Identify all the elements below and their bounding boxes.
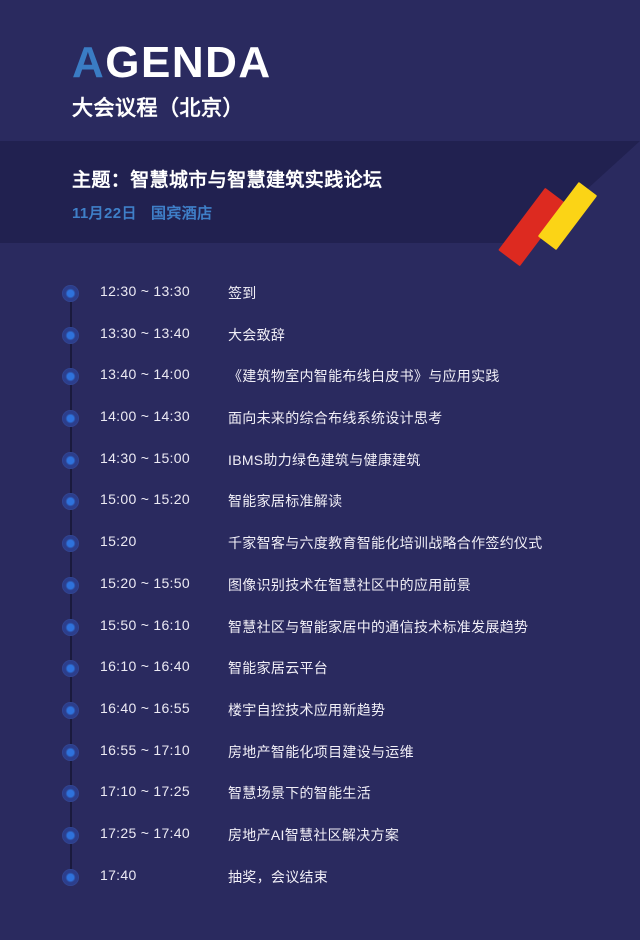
timeline-bullet-icon — [62, 619, 79, 636]
schedule-topic: 智慧社区与智能家居中的通信技术标准发展趋势 — [228, 617, 528, 637]
timeline-bullet-core — [67, 790, 74, 797]
schedule-time: 14:30 ~ 15:00 — [100, 450, 190, 466]
title-rest: GENDA — [105, 38, 271, 87]
timeline-bullet-icon — [62, 368, 79, 385]
timeline-bullet-core — [67, 332, 74, 339]
timeline-bullet-icon — [62, 577, 79, 594]
timeline-bullet-icon — [62, 285, 79, 302]
schedule-row: 16:55 ~ 17:10 房地产智能化项目建设与运维 — [0, 731, 640, 773]
page-title: AGENDA — [72, 40, 552, 86]
schedule-time: 13:40 ~ 14:00 — [100, 366, 190, 382]
timeline-bullet-icon — [62, 452, 79, 469]
schedule-time: 17:25 ~ 17:40 — [100, 825, 190, 841]
timeline-bullet-core — [67, 665, 74, 672]
timeline-bullet-core — [67, 874, 74, 881]
schedule-topic: 图像识别技术在智慧社区中的应用前景 — [228, 575, 471, 595]
timeline-bullet-core — [67, 498, 74, 505]
timeline-bullet-core — [67, 624, 74, 631]
schedule-topic: 《建筑物室内智能布线白皮书》与应用实践 — [228, 366, 500, 386]
timeline-bullet-core — [67, 457, 74, 464]
schedule-topic: 抽奖，会议结束 — [228, 867, 328, 887]
schedule-row: 14:00 ~ 14:30 面向未来的综合布线系统设计思考 — [0, 397, 640, 439]
timeline-bullet-core — [67, 373, 74, 380]
timeline-bullet-icon — [62, 410, 79, 427]
schedule-time: 14:00 ~ 14:30 — [100, 408, 190, 424]
schedule-topic: 智慧场景下的智能生活 — [228, 783, 371, 803]
theme-banner-content: 主题：智慧城市与智慧建筑实践论坛 11月22日国宾酒店 — [72, 165, 512, 223]
schedule-time: 15:20 — [100, 533, 137, 549]
schedule-row: 17:10 ~ 17:25 智慧场景下的智能生活 — [0, 772, 640, 814]
schedule-row: 12:30 ~ 13:30 签到 — [0, 272, 640, 314]
schedule-topic: 智能家居标准解读 — [228, 491, 342, 511]
timeline-bullet-core — [67, 749, 74, 756]
schedule-topic: 千家智客与六度教育智能化培训战略合作签约仪式 — [228, 533, 543, 553]
schedule-time: 15:50 ~ 16:10 — [100, 617, 190, 633]
timeline-bullet-core — [67, 290, 74, 297]
schedule-topic: 大会致辞 — [228, 325, 285, 345]
page-subtitle: 大会议程（北京） — [72, 92, 552, 122]
timeline-bullet-core — [67, 707, 74, 714]
schedule-row: 16:10 ~ 16:40 智能家居云平台 — [0, 647, 640, 689]
timeline-bullet-icon — [62, 744, 79, 761]
timeline-bullet-core — [67, 582, 74, 589]
event-date: 11月22日 — [72, 205, 137, 222]
poster-header: AGENDA 大会议程（北京） — [72, 40, 552, 122]
schedule-topic: 签到 — [228, 283, 257, 303]
title-accent-letter: A — [72, 38, 105, 87]
agenda-poster: AGENDA 大会议程（北京） 主题：智慧城市与智慧建筑实践论坛 11月22日国… — [0, 0, 640, 940]
forum-theme: 主题：智慧城市与智慧建筑实践论坛 — [72, 165, 512, 192]
timeline-bullet-core — [67, 832, 74, 839]
schedule-row: 13:40 ~ 14:00 《建筑物室内智能布线白皮书》与应用实践 — [0, 355, 640, 397]
schedule-timeline: 12:30 ~ 13:30 签到 13:30 ~ 13:40 大会致辞 13:4… — [0, 272, 640, 897]
schedule-row: 15:50 ~ 16:10 智慧社区与智能家居中的通信技术标准发展趋势 — [0, 606, 640, 648]
schedule-topic: 房地产AI智慧社区解决方案 — [228, 825, 399, 845]
timeline-bullet-icon — [62, 785, 79, 802]
schedule-row: 17:25 ~ 17:40 房地产AI智慧社区解决方案 — [0, 814, 640, 856]
timeline-bullet-icon — [62, 327, 79, 344]
schedule-time: 15:20 ~ 15:50 — [100, 575, 190, 591]
schedule-time: 15:00 ~ 15:20 — [100, 491, 190, 507]
schedule-time: 17:40 — [100, 867, 137, 883]
timeline-bullet-core — [67, 540, 74, 547]
schedule-row: 15:00 ~ 15:20 智能家居标准解读 — [0, 480, 640, 522]
schedule-row: 14:30 ~ 15:00 IBMS助力绿色建筑与健康建筑 — [0, 439, 640, 481]
timeline-bullet-core — [67, 415, 74, 422]
event-meta: 11月22日国宾酒店 — [72, 202, 512, 223]
schedule-row: 15:20 ~ 15:50 图像识别技术在智慧社区中的应用前景 — [0, 564, 640, 606]
timeline-bullet-icon — [62, 702, 79, 719]
schedule-row: 16:40 ~ 16:55 楼宇自控技术应用新趋势 — [0, 689, 640, 731]
schedule-row: 13:30 ~ 13:40 大会致辞 — [0, 314, 640, 356]
schedule-topic: 面向未来的综合布线系统设计思考 — [228, 408, 443, 428]
schedule-topic: 房地产智能化项目建设与运维 — [228, 742, 414, 762]
schedule-row: 15:20 千家智客与六度教育智能化培训战略合作签约仪式 — [0, 522, 640, 564]
schedule-row: 17:40 抽奖，会议结束 — [0, 856, 640, 898]
event-venue: 国宾酒店 — [151, 205, 213, 222]
timeline-bullet-icon — [62, 493, 79, 510]
timeline-bullet-icon — [62, 535, 79, 552]
timeline-bullet-icon — [62, 869, 79, 886]
schedule-topic: 智能家居云平台 — [228, 658, 328, 678]
schedule-time: 13:30 ~ 13:40 — [100, 325, 190, 341]
schedule-time: 17:10 ~ 17:25 — [100, 783, 190, 799]
schedule-topic: 楼宇自控技术应用新趋势 — [228, 700, 385, 720]
timeline-bullet-icon — [62, 827, 79, 844]
schedule-topic: IBMS助力绿色建筑与健康建筑 — [228, 450, 421, 470]
timeline-bullet-icon — [62, 660, 79, 677]
schedule-time: 16:40 ~ 16:55 — [100, 700, 190, 716]
schedule-time: 16:55 ~ 17:10 — [100, 742, 190, 758]
schedule-time: 16:10 ~ 16:40 — [100, 658, 190, 674]
schedule-time: 12:30 ~ 13:30 — [100, 283, 190, 299]
